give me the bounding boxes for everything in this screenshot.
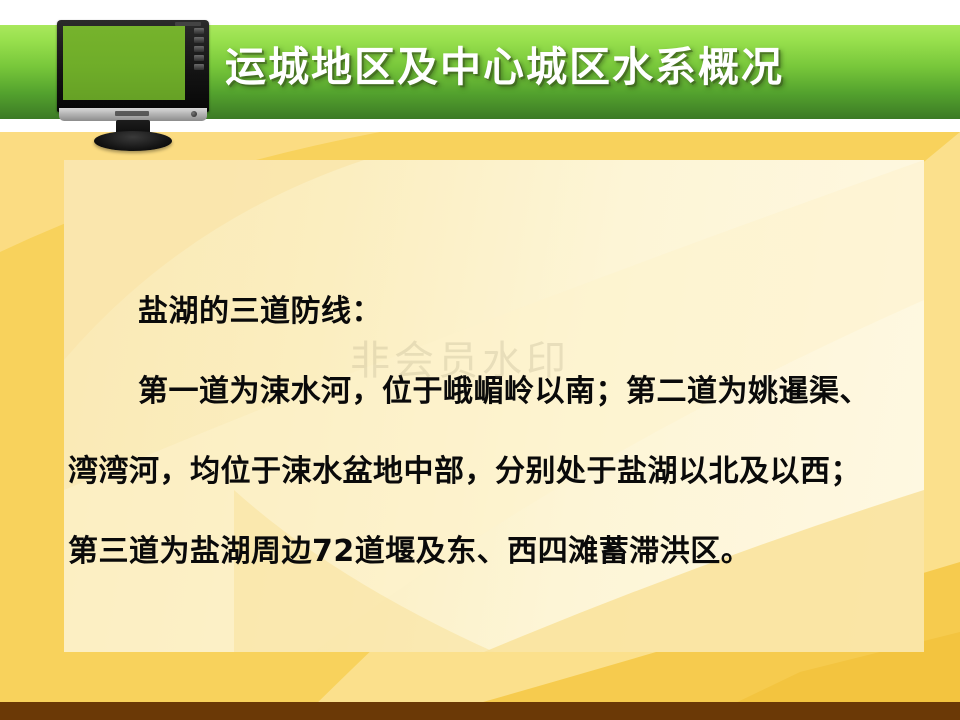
content-text-block: 盐湖的三道防线： 第一道为涑水河，位于峨嵋岭以南；第二道为姚暹渠、 湾湾河，均位…: [64, 160, 924, 652]
monitor-brand-logo: [115, 111, 149, 116]
content-line-1: 第一道为涑水河，位于峨嵋岭以南；第二道为姚暹渠、: [138, 366, 870, 410]
monitor-power-led-icon: [191, 111, 197, 117]
content-line-3: 第三道为盐湖周边72道堰及东、西四滩蓄滞洪区。: [68, 526, 751, 570]
slide-title: 运城地区及中心城区水系概况: [225, 36, 925, 98]
content-heading: 盐湖的三道防线：: [138, 286, 382, 330]
content-panel: 盐湖的三道防线： 第一道为涑水河，位于峨嵋岭以南；第二道为姚暹渠、 湾湾河，均位…: [64, 160, 924, 652]
monitor-stand-base: [94, 131, 172, 151]
bottom-accent-bar: [0, 702, 960, 720]
monitor-bezel: [57, 20, 209, 112]
monitor-side-buttons: [194, 28, 206, 78]
content-line-2: 湾湾河，均位于涑水盆地中部，分别处于盐湖以北及以西；: [68, 446, 861, 490]
presentation-slide: 运城地区及中心城区水系概况 盐湖的三道防线： 第一道为涑水河，位于峨嵋岭以南；第…: [0, 0, 960, 720]
lcd-monitor-icon: [57, 20, 209, 145]
monitor-screen: [63, 26, 185, 100]
